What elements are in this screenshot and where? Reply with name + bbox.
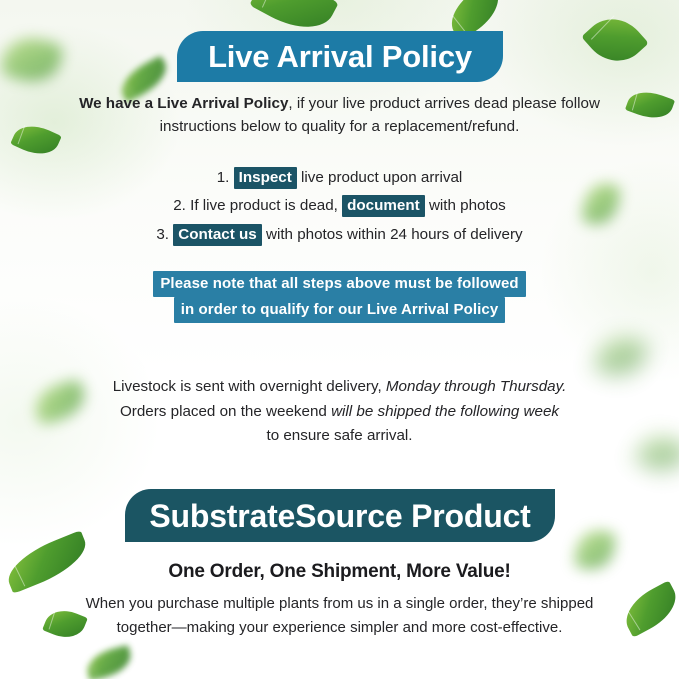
leaf-icon [617,580,679,637]
list-item: 3. Contact us with photos within 24 hour… [96,221,583,249]
leaf-icon [593,330,650,384]
leaf-icon [0,32,65,89]
shipping-line1-italic: Monday through Thursday. [386,378,566,395]
shipping-line2-plain: Orders placed on the weekend [120,403,331,420]
shipping-line2-italic: will be shipped the following week [331,403,559,420]
callout-line-1-wrap: Please note that all steps above must be… [96,274,583,293]
product-description-line-1: When you purchase multiple plants from u… [86,595,594,612]
step-number: 2. [173,197,186,214]
leaf-icon [633,427,679,482]
leaf-icon [625,85,675,124]
product-description-line-2: together—making your experience simpler … [117,619,563,636]
leaf-icon [84,645,135,679]
leaf-icon [30,378,90,426]
step-highlight-contact-us: Contact us [173,224,261,246]
live-arrival-intro-paragraph: We have a Live Arrival Policy, if your l… [66,92,613,138]
substratesource-product-banner: SubstrateSource Product [125,489,555,542]
step-text: with photos within 24 hours of delivery [266,226,523,243]
intro-lead-text: We have a Live Arrival Policy [79,95,288,112]
shipping-line1-plain: Livestock is sent with overnight deliver… [113,378,386,395]
product-subheading: One Order, One Shipment, More Value! [66,558,613,587]
callout-line-2: in order to qualify for our Live Arrival… [174,297,506,323]
live-arrival-policy-banner: Live Arrival Policy [177,31,503,82]
product-description-paragraph: When you purchase multiple plants from u… [76,592,603,641]
step-highlight-inspect: Inspect [234,167,297,189]
intro-second-line: instructions below to quality for a repl… [160,118,520,135]
leaf-icon [581,180,622,227]
leaf-icon [581,6,649,74]
step-number: 3. [156,226,169,243]
step-highlight-document: document [342,195,425,217]
step-number: 1. [217,169,230,186]
leaf-icon [10,118,62,161]
substratesource-product-banner-title: SubstrateSource Product [149,500,530,532]
step-text-before: If live product is dead, [190,197,338,214]
list-item: 1. Inspect live product upon arrival [96,164,583,192]
list-item: 2. If live product is dead, document wit… [96,192,583,220]
live-arrival-steps-list: 1. Inspect live product upon arrival 2. … [96,164,583,249]
shipping-line3: to ensure safe arrival. [266,427,412,444]
livestock-shipping-paragraph: Livestock is sent with overnight deliver… [86,375,593,449]
infographic-page: Live Arrival Policy We have a Live Arriv… [0,0,679,679]
intro-rest-text: , if your live product arrives dead plea… [288,95,600,112]
policy-callout: Please note that all steps above must be… [96,274,583,326]
step-text: with photos [429,197,506,214]
callout-line-1: Please note that all steps above must be… [153,271,525,297]
live-arrival-policy-banner-title: Live Arrival Policy [208,41,472,72]
step-text: live product upon arrival [301,169,462,186]
callout-line-2-wrap: in order to qualify for our Live Arrival… [96,300,583,319]
